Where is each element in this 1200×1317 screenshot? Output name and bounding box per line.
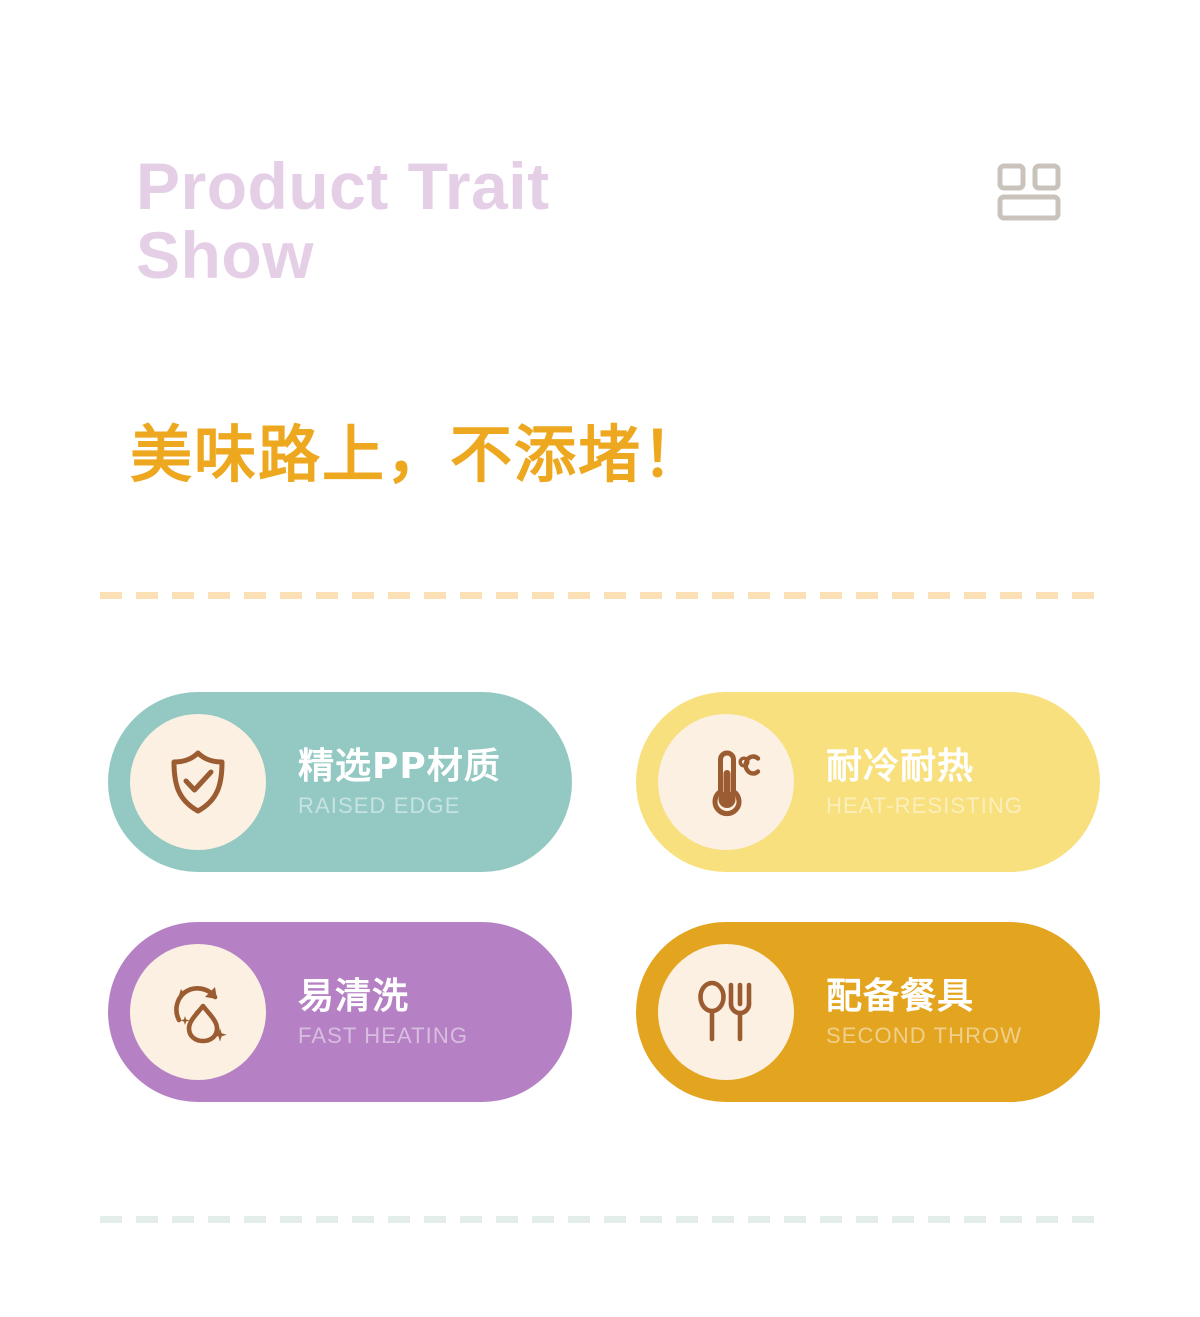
thermometer-celsius-icon: [690, 746, 762, 818]
card-text: 易清洗 FAST HEATING: [298, 976, 468, 1049]
product-trait-show-page: Product Trait Show 美味路上，不添堵！: [0, 0, 1200, 1317]
card-text: 配备餐具 SECOND THROW: [826, 976, 1022, 1049]
card-badge: [658, 944, 794, 1080]
card-subtitle: SECOND THROW: [826, 1024, 1022, 1048]
shield-check-icon: [162, 746, 234, 818]
feature-card-heat-resisting[interactable]: 耐冷耐热 HEAT-RESISTING: [636, 692, 1100, 872]
page-subtitle: 美味路上，不添堵！: [130, 404, 706, 494]
card-subtitle: RAISED EDGE: [298, 794, 501, 818]
spoon-fork-icon: [690, 976, 762, 1048]
card-title: 耐冷耐热: [826, 746, 1023, 788]
title-block: Product Trait Show: [136, 152, 756, 289]
card-badge: [130, 714, 266, 850]
card-title: 精选PP材质: [298, 746, 501, 788]
feature-card-grid: 精选PP材质 RAISED EDGE 耐冷耐热 HEA: [108, 692, 1100, 1102]
page-title: Product Trait Show: [136, 152, 756, 289]
divider-top: [100, 592, 1100, 599]
water-drop-refresh-sparkle-icon: [162, 976, 234, 1048]
feature-card-fast-heating[interactable]: 易清洗 FAST HEATING: [108, 922, 572, 1102]
card-title: 易清洗: [298, 976, 468, 1018]
card-text: 耐冷耐热 HEAT-RESISTING: [826, 746, 1023, 819]
divider-bottom: [100, 1216, 1100, 1223]
header: Product Trait Show 美味路上，不添堵！: [0, 0, 1200, 560]
feature-card-raised-edge[interactable]: 精选PP材质 RAISED EDGE: [108, 692, 572, 872]
card-badge: [658, 714, 794, 850]
card-subtitle: FAST HEATING: [298, 1024, 468, 1048]
layout-grid-icon[interactable]: [997, 163, 1061, 221]
card-title: 配备餐具: [826, 976, 1022, 1018]
feature-card-second-throw[interactable]: 配备餐具 SECOND THROW: [636, 922, 1100, 1102]
card-badge: [130, 944, 266, 1080]
card-subtitle: HEAT-RESISTING: [826, 794, 1023, 818]
card-text: 精选PP材质 RAISED EDGE: [298, 746, 501, 819]
